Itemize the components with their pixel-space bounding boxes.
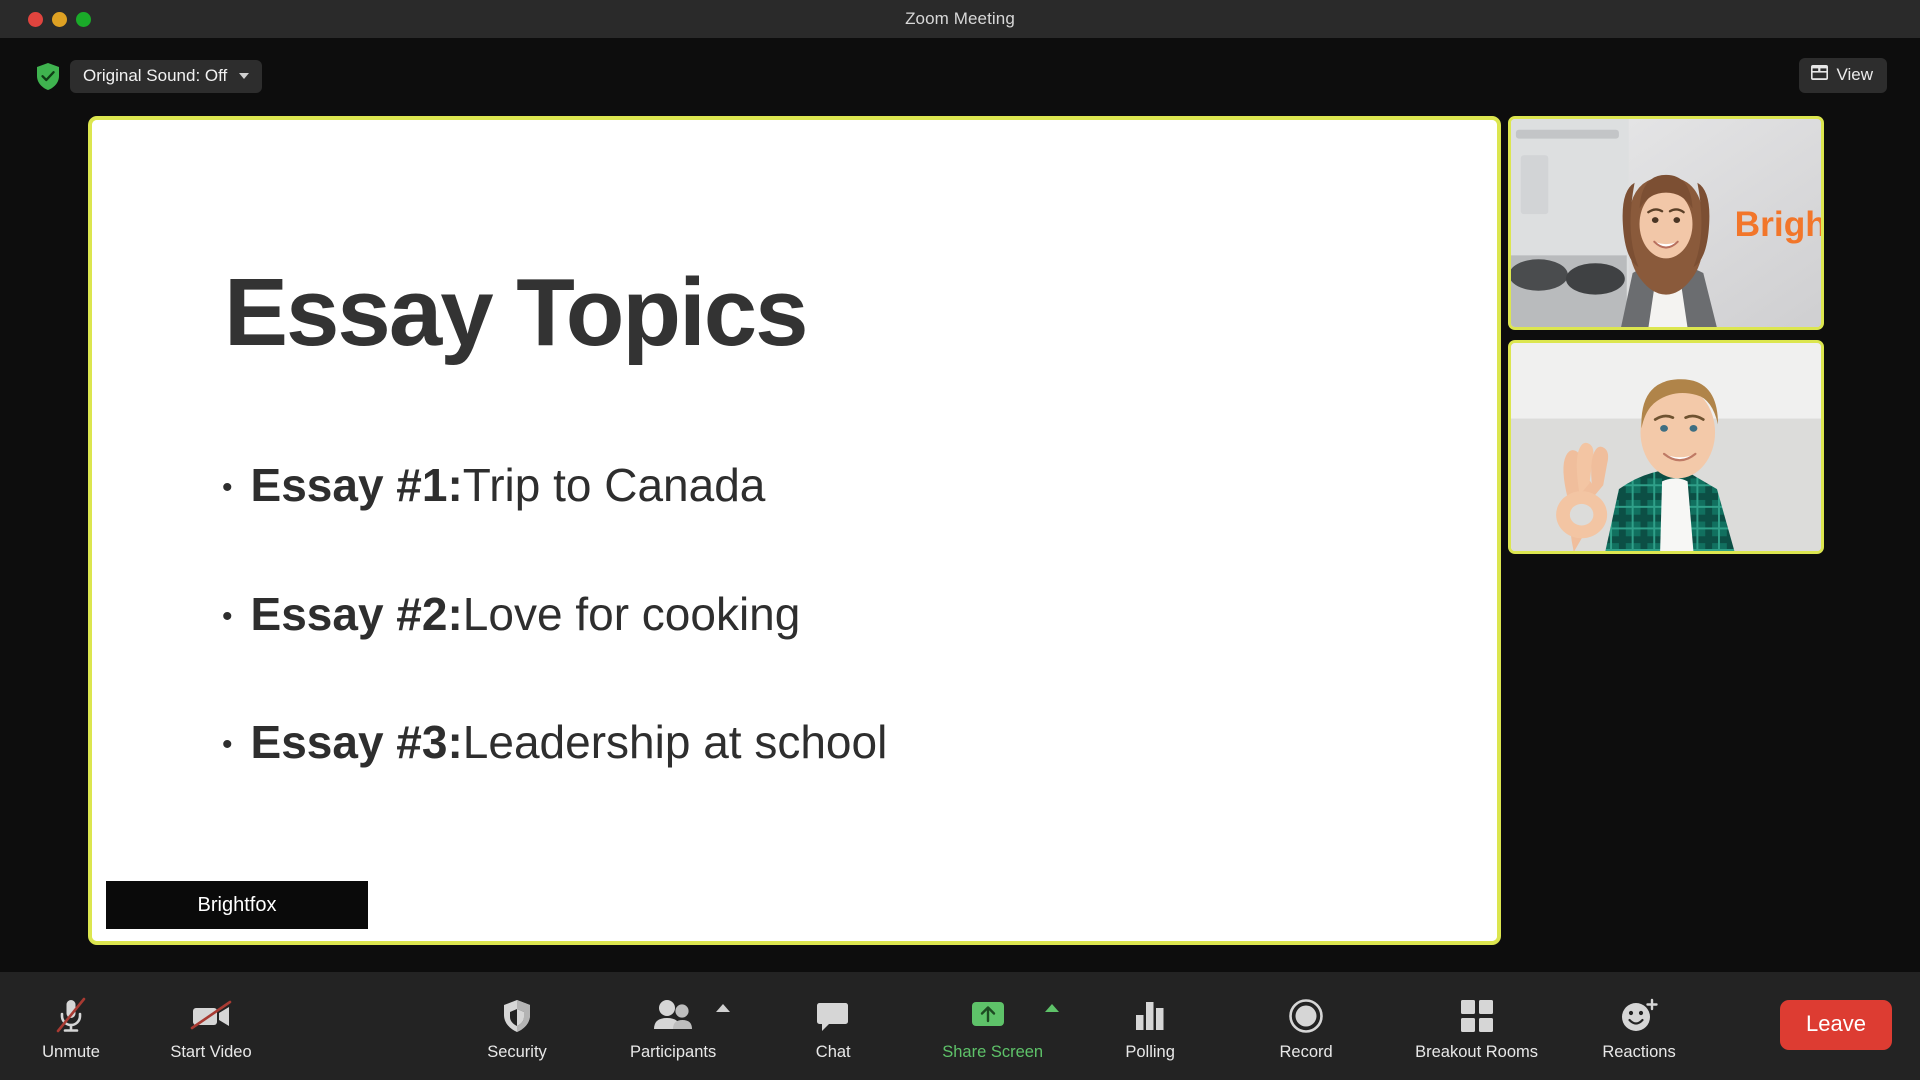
reactions-button-label: Reactions: [1602, 1043, 1675, 1062]
share-screen-button[interactable]: Share Screen: [942, 982, 1043, 1070]
record-button-label: Record: [1280, 1043, 1333, 1062]
bullet-marker-icon: •: [222, 602, 233, 632]
security-button[interactable]: Security: [474, 982, 560, 1070]
meeting-toolbar: Unmute Start Video Security: [0, 972, 1920, 1080]
shared-screen-region[interactable]: Essay Topics • Essay #1:Trip to Canada •…: [88, 116, 1501, 945]
record-button[interactable]: Record: [1263, 982, 1349, 1070]
window-title: Zoom Meeting: [0, 9, 1920, 29]
participant-thumbnail-strip: Brightf: [1508, 116, 1824, 564]
unmute-button[interactable]: Unmute: [28, 982, 114, 1070]
original-sound-control[interactable]: Original Sound: Off: [35, 60, 262, 93]
window-titlebar: Zoom Meeting: [0, 0, 1920, 38]
chat-button-label: Chat: [816, 1043, 851, 1062]
unmute-button-label: Unmute: [42, 1043, 100, 1062]
bar-chart-icon: [1133, 996, 1167, 1036]
chat-button[interactable]: Chat: [790, 982, 876, 1070]
bullet-label: Essay #1:: [251, 459, 463, 511]
bullet-text: Love for cooking: [463, 588, 801, 640]
video-off-icon: [189, 996, 233, 1036]
security-button-label: Security: [487, 1043, 547, 1062]
caret-down-icon[interactable]: [239, 73, 249, 79]
list-item: • Essay #3:Leadership at school: [222, 717, 1422, 768]
breakout-rooms-button-label: Breakout Rooms: [1415, 1043, 1538, 1062]
record-circle-icon: [1288, 996, 1324, 1036]
participants-button[interactable]: Participants: [630, 982, 716, 1070]
slide-bullet-list: • Essay #1:Trip to Canada • Essay #2:Lov…: [222, 460, 1422, 846]
leave-button[interactable]: Leave: [1780, 1000, 1892, 1050]
bullet-text: Leadership at school: [463, 716, 888, 768]
presenter-name-tag: Brightfox: [106, 881, 368, 929]
breakout-rooms-button[interactable]: Breakout Rooms: [1415, 982, 1538, 1070]
participants-button-label: Participants: [630, 1043, 716, 1062]
bullet-marker-icon: •: [222, 730, 233, 760]
chevron-up-icon[interactable]: [1045, 1004, 1059, 1012]
bullet-marker-icon: •: [222, 473, 233, 503]
polling-button[interactable]: Polling: [1107, 982, 1193, 1070]
chevron-up-icon[interactable]: [716, 1004, 730, 1012]
microphone-muted-icon: [54, 996, 88, 1036]
share-screen-icon: [972, 996, 1014, 1036]
presentation-slide: Essay Topics • Essay #1:Trip to Canada •…: [92, 120, 1497, 941]
people-icon: [652, 996, 694, 1036]
bullet-text: Trip to Canada: [463, 459, 766, 511]
participant-video-teen[interactable]: [1508, 340, 1824, 554]
close-button[interactable]: [28, 12, 43, 27]
shield-icon: [501, 996, 533, 1036]
slide-title: Essay Topics: [224, 265, 807, 361]
maximize-button[interactable]: [76, 12, 91, 27]
share-screen-button-label: Share Screen: [942, 1043, 1043, 1062]
svg-text:Brightf: Brightf: [1735, 205, 1821, 244]
bullet-label: Essay #3:: [251, 716, 463, 768]
view-button-label: View: [1836, 65, 1873, 85]
reactions-button[interactable]: Reactions: [1596, 982, 1682, 1070]
traffic-lights: [28, 12, 91, 27]
polling-button-label: Polling: [1125, 1043, 1175, 1062]
shield-check-icon: [35, 62, 61, 91]
participant-video-woman[interactable]: Brightf: [1508, 116, 1824, 330]
meeting-topbar: Original Sound: Off View: [0, 38, 1920, 115]
list-item: • Essay #2:Love for cooking: [222, 589, 1422, 640]
view-button[interactable]: View: [1799, 58, 1887, 93]
original-sound-label: Original Sound: Off: [83, 66, 227, 86]
grid-squares-icon: [1460, 996, 1494, 1036]
smiley-plus-icon: [1620, 996, 1658, 1036]
minimize-button[interactable]: [52, 12, 67, 27]
original-sound-pill[interactable]: Original Sound: Off: [70, 60, 262, 93]
list-item: • Essay #1:Trip to Canada: [222, 460, 1422, 511]
layout-grid-icon: [1811, 65, 1828, 85]
bullet-label: Essay #2:: [251, 588, 463, 640]
start-video-button-label: Start Video: [170, 1043, 251, 1062]
start-video-button[interactable]: Start Video: [168, 982, 254, 1070]
chat-bubble-icon: [815, 996, 851, 1036]
